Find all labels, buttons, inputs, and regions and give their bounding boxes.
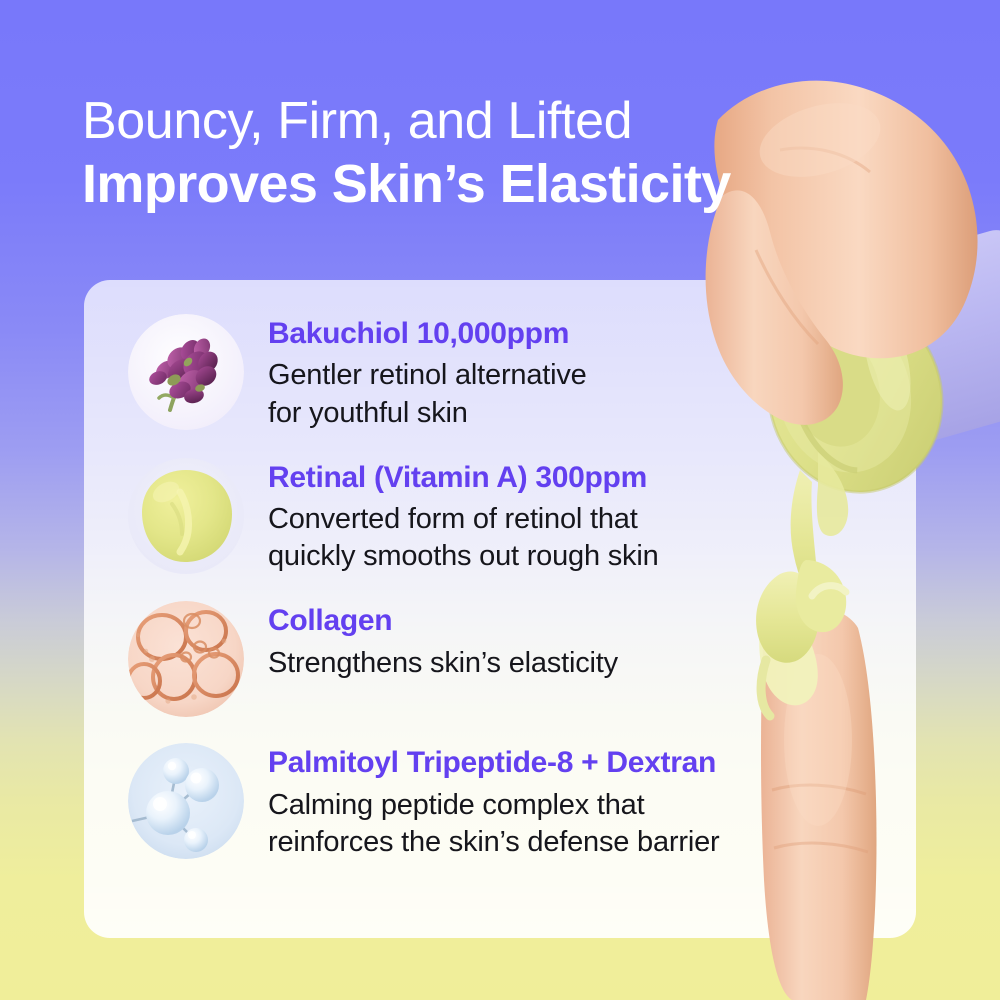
list-item: Retinal (Vitamin A) 300ppm Converted for…: [128, 454, 868, 576]
yellow-cream-swatch-icon: [128, 458, 244, 574]
blue-molecule-icon: [128, 743, 244, 859]
ingredient-description: Gentler retinol alternative for youthful…: [268, 357, 587, 431]
ingredient-description: Converted form of retinol that quickly s…: [268, 501, 659, 575]
ingredient-name: Collagen: [268, 603, 618, 638]
infographic-canvas: Bouncy, Firm, and Lifted Improves Skin’s…: [0, 0, 1000, 1000]
headline-line-1: Bouncy, Firm, and Lifted: [82, 92, 882, 150]
rose-bubble-cells-icon: [128, 601, 244, 717]
ingredients-card: Bakuchiol 10,000ppm Gentler retinol alte…: [84, 280, 916, 938]
ingredient-text: Palmitoyl Tripeptide-8 + Dextran Calming…: [268, 739, 719, 861]
ingredient-name: Palmitoyl Tripeptide-8 + Dextran: [268, 745, 719, 780]
headline-line-2: Improves Skin’s Elasticity: [82, 154, 882, 214]
ingredient-description: Calming peptide complex that reinforces …: [268, 787, 719, 861]
list-item: Bakuchiol 10,000ppm Gentler retinol alte…: [128, 310, 868, 432]
list-item: Collagen Strengthens skin’s elasticity: [128, 597, 868, 717]
ingredient-text: Retinal (Vitamin A) 300ppm Converted for…: [268, 454, 659, 576]
ingredient-text: Collagen Strengthens skin’s elasticity: [268, 597, 618, 682]
page-title: Bouncy, Firm, and Lifted Improves Skin’s…: [82, 92, 882, 215]
ingredient-description: Strengthens skin’s elasticity: [268, 645, 618, 682]
ingredient-name: Bakuchiol 10,000ppm: [268, 316, 587, 351]
list-item: Palmitoyl Tripeptide-8 + Dextran Calming…: [128, 739, 868, 861]
ingredients-list: Bakuchiol 10,000ppm Gentler retinol alte…: [128, 310, 868, 861]
ingredient-name: Retinal (Vitamin A) 300ppm: [268, 460, 659, 495]
purple-flower-icon: [128, 314, 244, 430]
ingredient-text: Bakuchiol 10,000ppm Gentler retinol alte…: [268, 310, 587, 432]
